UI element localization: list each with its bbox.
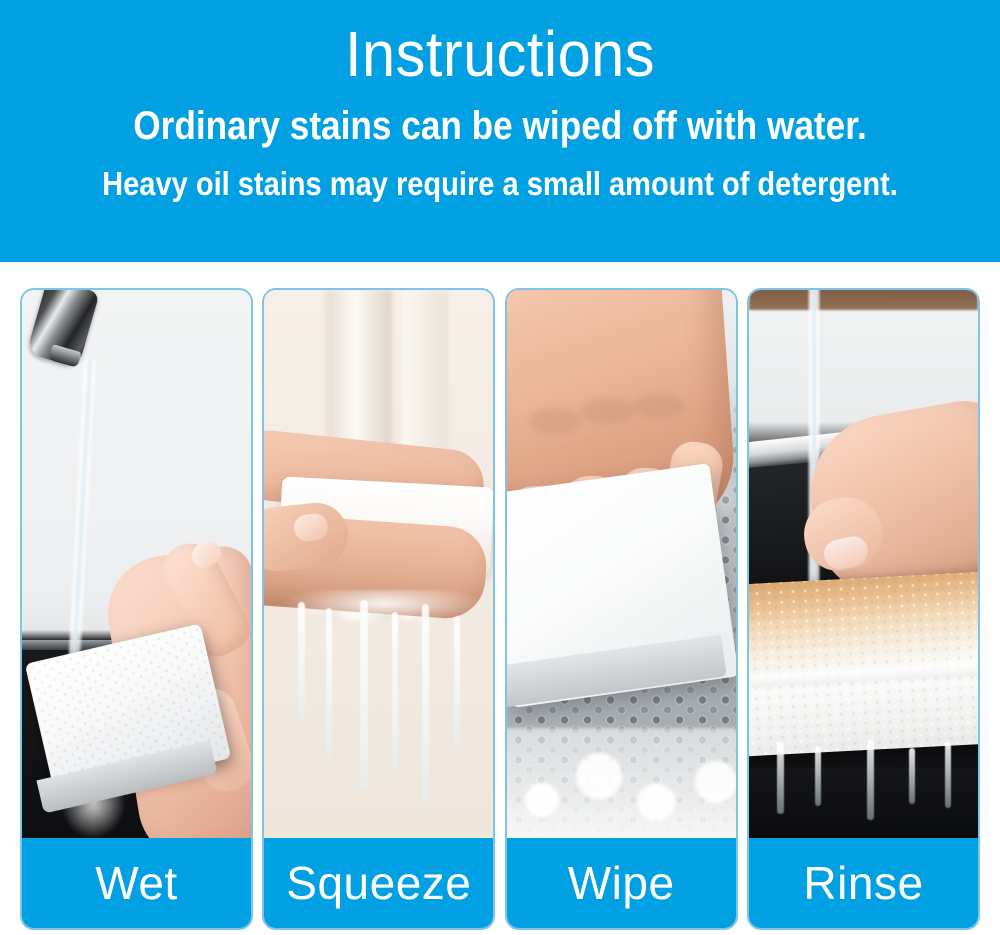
knuckle-shadow xyxy=(633,394,685,418)
page-title: Instructions xyxy=(35,18,965,90)
step-photo-rinse xyxy=(749,290,978,838)
water-drip xyxy=(777,742,784,814)
water-drip xyxy=(945,742,951,808)
water-drip xyxy=(360,600,368,790)
water-drip xyxy=(454,616,460,746)
background-shelf xyxy=(749,290,978,310)
step-label-wet: Wet xyxy=(22,838,251,928)
step-panel-squeeze: Squeeze xyxy=(262,288,495,930)
water-drip xyxy=(815,746,821,806)
step-photo-wet xyxy=(22,290,251,838)
knuckle-shadow xyxy=(529,408,581,434)
step-panel-rinse: Rinse xyxy=(747,288,980,930)
sponge-texture xyxy=(749,571,978,756)
soap-foam xyxy=(507,728,736,838)
water-drip xyxy=(422,604,429,804)
step-photo-wipe xyxy=(507,290,736,838)
header-subtitle-line-1: Ordinary stains can be wiped off with wa… xyxy=(60,102,940,150)
water-drip xyxy=(326,608,332,758)
water-drip xyxy=(392,612,398,772)
water-drip xyxy=(909,748,915,804)
step-label-rinse: Rinse xyxy=(749,838,978,928)
knuckle-shadow xyxy=(581,398,635,424)
step-panel-wipe: Wipe xyxy=(505,288,738,930)
step-label-squeeze: Squeeze xyxy=(264,838,493,928)
header-subtitle-line-2: Heavy oil stains may require a small amo… xyxy=(60,164,940,204)
sponge-stained xyxy=(749,571,978,756)
water-stream xyxy=(807,290,821,616)
step-panel-wet: Wet xyxy=(20,288,253,930)
instructions-header: Instructions Ordinary stains can be wipe… xyxy=(0,0,1000,262)
step-label-wipe: Wipe xyxy=(507,838,736,928)
step-panels: Wet Squeeze xyxy=(20,288,980,930)
step-photo-squeeze xyxy=(264,290,493,838)
water-drip xyxy=(867,740,874,820)
water-sheet xyxy=(284,590,484,624)
